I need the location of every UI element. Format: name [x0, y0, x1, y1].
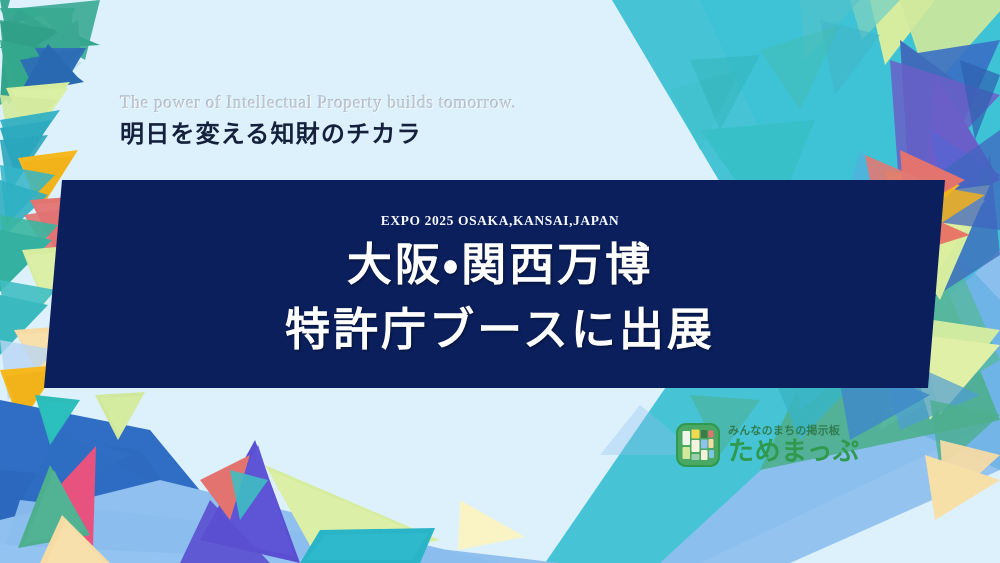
tagline-japanese: 明日を変える知財のチカラ	[120, 119, 516, 149]
tagline-english: The power of Intellectual Property build…	[120, 92, 516, 114]
bulletin-board-icon	[676, 423, 720, 467]
logo-name: ためまっぷ	[728, 439, 859, 465]
logo-tagline: みんなのまちの掲示板	[728, 425, 859, 436]
logo-wordmark-group: みんなのまちの掲示板 ためまっぷ	[728, 425, 859, 465]
navy-banner-shape	[0, 180, 1000, 400]
poster-canvas: The power of Intellectual Property build…	[0, 0, 1000, 563]
tamemap-logo[interactable]: みんなのまちの掲示板 ためまっぷ	[676, 423, 859, 467]
tagline-block: The power of Intellectual Property build…	[120, 92, 516, 149]
